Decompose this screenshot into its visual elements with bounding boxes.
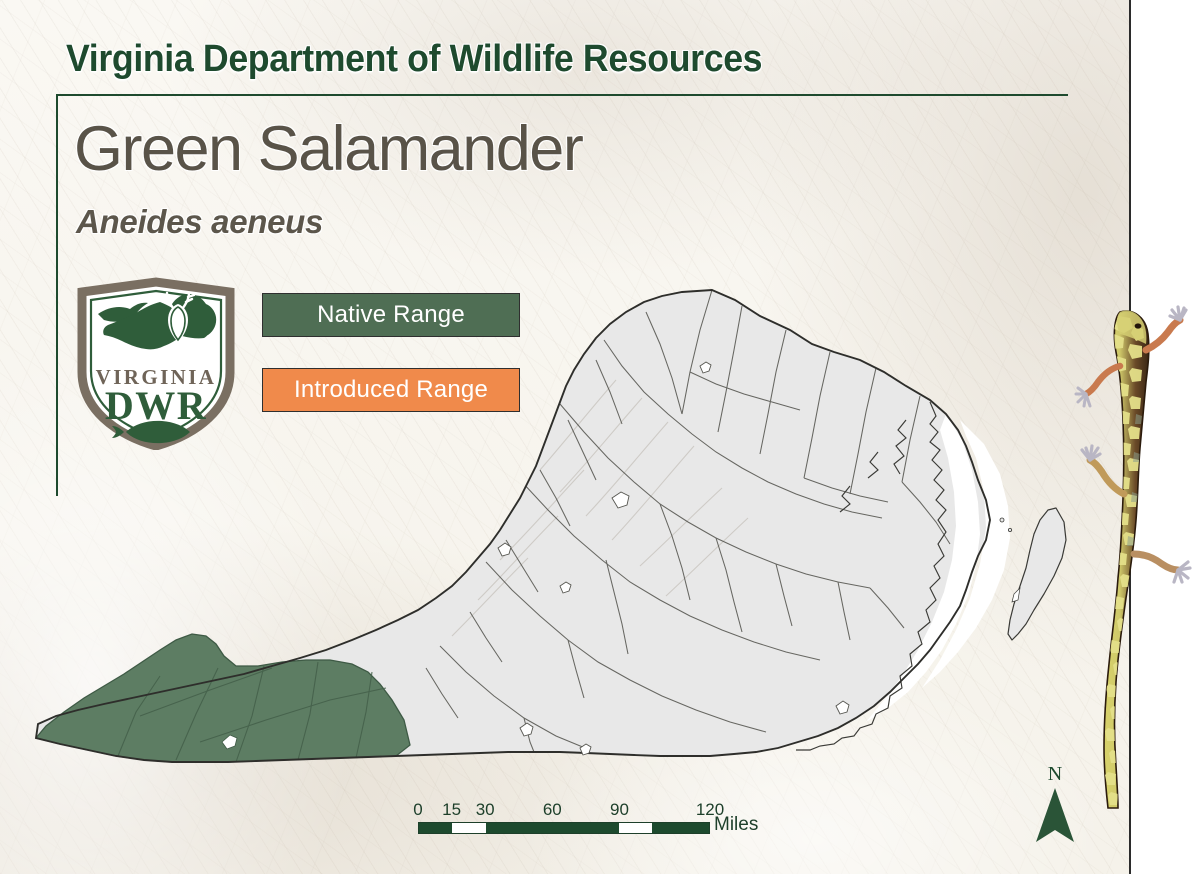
scalebar-units: Miles bbox=[714, 814, 758, 836]
scale-tick-0: 0 bbox=[413, 800, 422, 820]
scale-tick-90: 90 bbox=[610, 800, 629, 820]
salamander-eye bbox=[1135, 323, 1142, 328]
map-frame: Virginia Department of Wildlife Resource… bbox=[0, 0, 1131, 874]
scale-tick-60: 60 bbox=[543, 800, 562, 820]
salamander-front-right-leg bbox=[1146, 307, 1186, 350]
map-legend: Native Range Introduced Range bbox=[262, 293, 520, 412]
eastern-shore-peninsula bbox=[1000, 508, 1066, 640]
salamander-hind-right-leg bbox=[1134, 554, 1190, 582]
virginia-dwr-logo[interactable]: VIRGINIA DWR bbox=[72, 276, 240, 450]
header-divider-horizontal bbox=[56, 94, 1068, 96]
map-scalebar: 0 15 30 60 90 120 Miles bbox=[418, 800, 710, 834]
page-title: Virginia Department of Wildlife Resource… bbox=[66, 38, 762, 81]
species-scientific-name: Aneides aeneus bbox=[76, 203, 323, 241]
scale-segment-2 bbox=[486, 823, 519, 833]
green-salamander-illustration bbox=[1068, 296, 1192, 816]
salamander-hind-left-leg bbox=[1082, 446, 1124, 494]
scale-segment-4 bbox=[652, 823, 709, 833]
scale-segment-1 bbox=[419, 823, 452, 833]
scalebar-labels: 0 15 30 60 90 120 bbox=[418, 800, 710, 820]
scale-tick-30: 30 bbox=[476, 800, 495, 820]
species-common-name: Green Salamander bbox=[74, 113, 582, 185]
header-divider-vertical bbox=[56, 94, 58, 496]
species-range-map-poster: Virginia Department of Wildlife Resource… bbox=[0, 0, 1200, 874]
legend-label-introduced: Introduced Range bbox=[294, 376, 488, 404]
scale-segment-3 bbox=[519, 823, 619, 833]
scalebar-track bbox=[418, 822, 710, 834]
scale-tick-15: 15 bbox=[442, 800, 461, 820]
legend-item-native-range[interactable]: Native Range bbox=[262, 293, 520, 337]
salamander-front-left-leg bbox=[1076, 366, 1120, 406]
legend-label-native: Native Range bbox=[317, 301, 465, 329]
legend-item-introduced-range[interactable]: Introduced Range bbox=[262, 368, 520, 412]
